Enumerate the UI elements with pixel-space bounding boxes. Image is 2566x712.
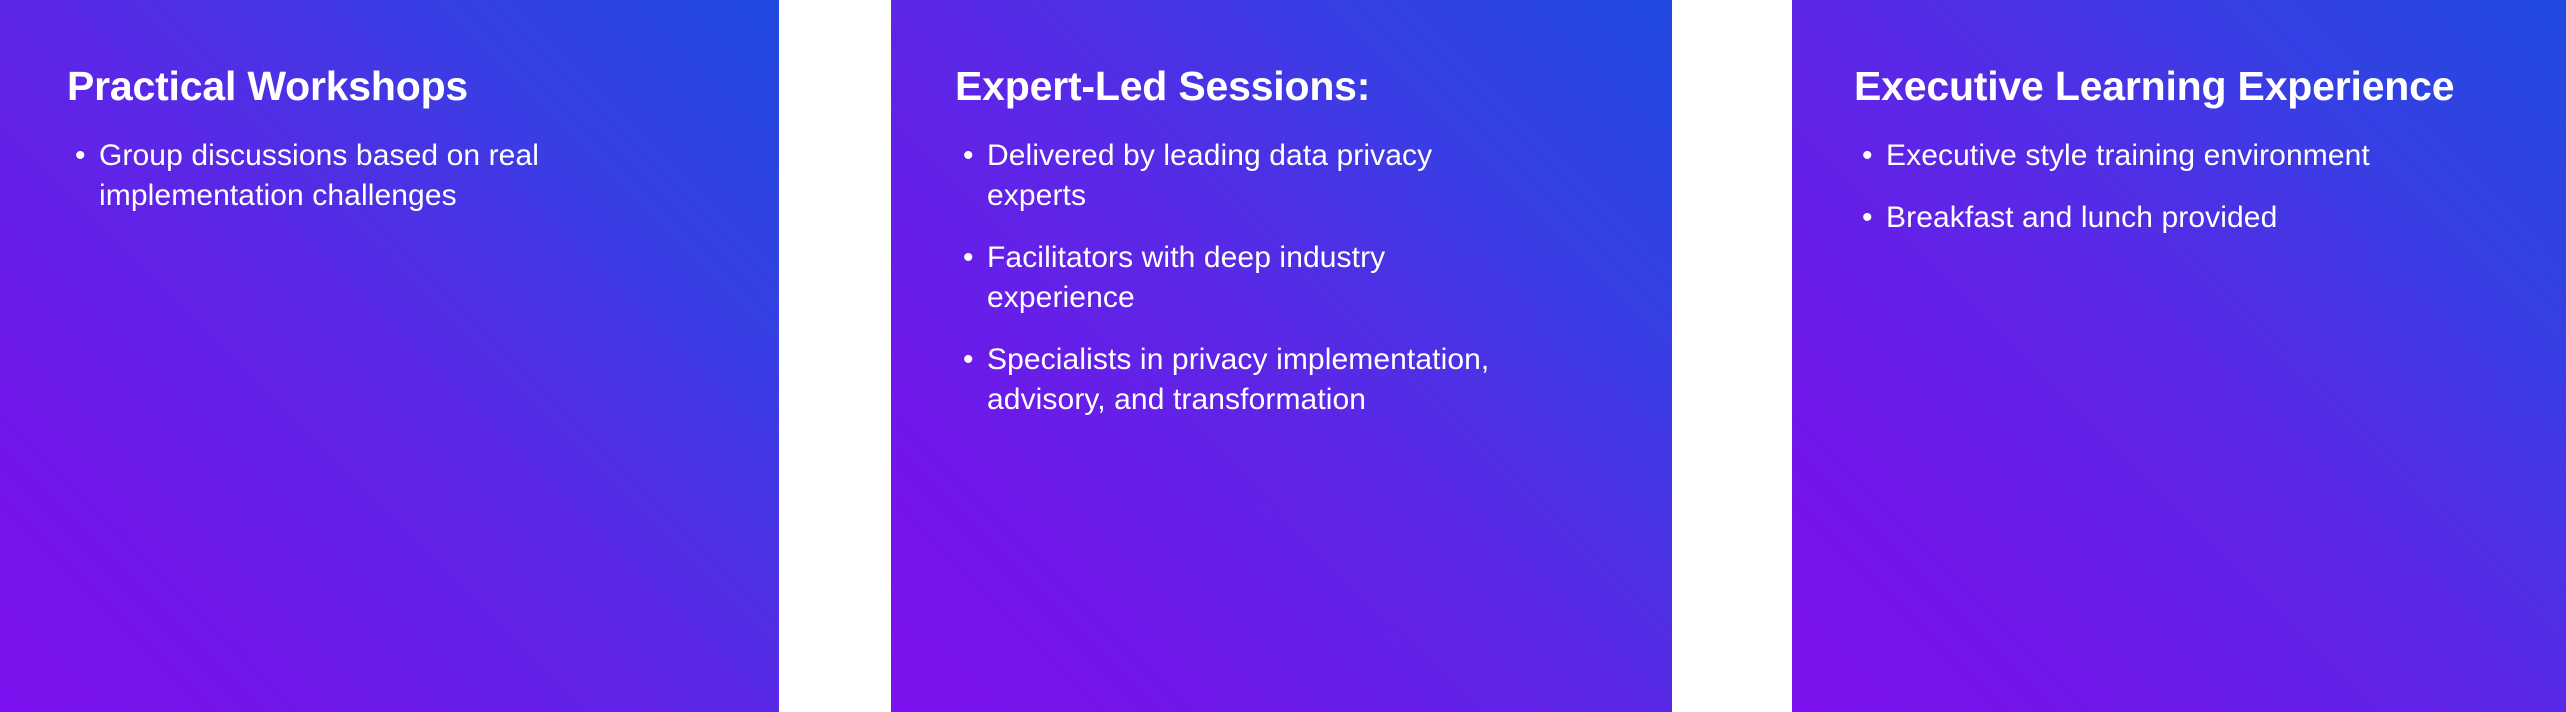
- bullet-point-icon: •: [69, 136, 99, 176]
- bullet-point-icon: •: [957, 238, 987, 278]
- list-item: • Delivered by leading data privacy expe…: [955, 136, 1632, 216]
- list-item: • Facilitators with deep industry experi…: [955, 238, 1632, 318]
- bullet-list: • Group discussions based on real implem…: [67, 136, 739, 216]
- bullet-point-icon: •: [957, 340, 987, 380]
- bullet-list: • Delivered by leading data privacy expe…: [955, 136, 1632, 420]
- three-column-panel-strip: Practical Workshops • Group discussions …: [0, 0, 2566, 712]
- list-item-text: Executive style training environment: [1886, 136, 2370, 176]
- list-item-text: Delivered by leading data privacy expert…: [987, 136, 1517, 216]
- column-gap: [779, 0, 891, 712]
- panel-title: Practical Workshops: [67, 62, 739, 110]
- panel-content: Practical Workshops • Group discussions …: [0, 0, 779, 712]
- list-item-text: Specialists in privacy implementation, a…: [987, 340, 1517, 420]
- bullet-list: • Executive style training environment •…: [1854, 136, 2526, 238]
- bullet-point-icon: •: [1856, 198, 1886, 238]
- bullet-point-icon: •: [1856, 136, 1886, 176]
- panel-executive-learning-experience: Executive Learning Experience • Executiv…: [1792, 0, 2566, 712]
- list-item: • Breakfast and lunch provided: [1854, 198, 2526, 238]
- panel-expert-led-sessions: Expert-Led Sessions: • Delivered by lead…: [891, 0, 1672, 712]
- panel-title: Expert-Led Sessions:: [955, 62, 1632, 110]
- list-item: • Group discussions based on real implem…: [67, 136, 739, 216]
- panel-content: Executive Learning Experience • Executiv…: [1792, 0, 2566, 712]
- list-item: • Specialists in privacy implementation,…: [955, 340, 1632, 420]
- panel-title: Executive Learning Experience: [1854, 62, 2526, 110]
- panel-practical-workshops: Practical Workshops • Group discussions …: [0, 0, 779, 712]
- list-item-text: Breakfast and lunch provided: [1886, 198, 2277, 238]
- list-item: • Executive style training environment: [1854, 136, 2526, 176]
- list-item-text: Group discussions based on real implemen…: [99, 136, 659, 216]
- list-item-text: Facilitators with deep industry experien…: [987, 238, 1517, 318]
- bullet-point-icon: •: [957, 136, 987, 176]
- panel-content: Expert-Led Sessions: • Delivered by lead…: [891, 0, 1672, 712]
- column-gap: [1672, 0, 1792, 712]
